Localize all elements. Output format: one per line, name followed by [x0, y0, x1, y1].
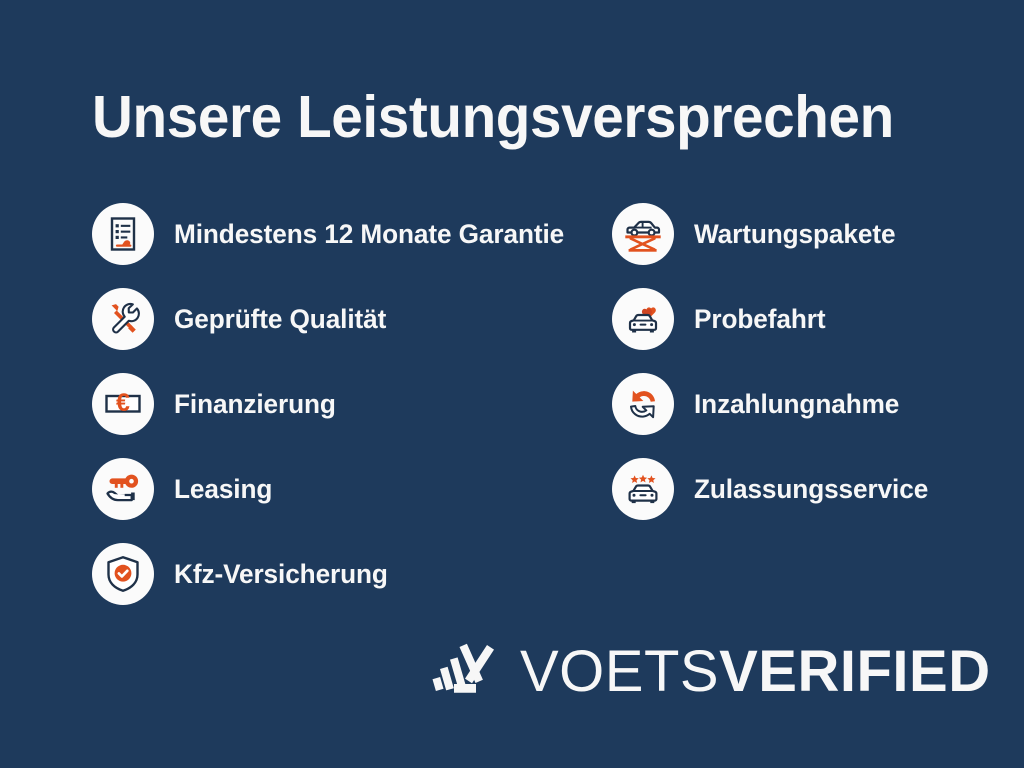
promo-banner: Unsere Leistungsversprechen Mindestens 1…: [0, 0, 1024, 768]
wrench-screwdriver-icon: [92, 288, 154, 350]
feature-label: Leasing: [174, 476, 272, 503]
voets-verified-logo: VOETSVERIFIED: [432, 636, 991, 708]
feature-column-right: Wartungspakete Probefahrt: [612, 203, 1012, 543]
feature-item-probefahrt: Probefahrt: [612, 288, 1012, 350]
feature-item-qualitaet: Geprüfte Qualität: [92, 288, 592, 350]
exchange-arrows-icon: [612, 373, 674, 435]
feature-item-finanzierung: € Finanzierung: [92, 373, 592, 435]
document-signature-icon: [92, 203, 154, 265]
feature-item-versicherung: Kfz-Versicherung: [92, 543, 592, 605]
svg-text:€: €: [116, 389, 130, 417]
logo-name-verified: VERIFIED: [719, 643, 991, 701]
feature-item-inzahlungnahme: Inzahlungnahme: [612, 373, 1012, 435]
car-lift-icon: [612, 203, 674, 265]
feature-item-wartungspakete: Wartungspakete: [612, 203, 1012, 265]
feature-label: Finanzierung: [174, 391, 336, 418]
feature-item-zulassungsservice: Zulassungsservice: [612, 458, 1012, 520]
hand-key-icon: [92, 458, 154, 520]
feature-item-garantie: Mindestens 12 Monate Garantie: [92, 203, 592, 265]
page-title: Unsere Leistungsversprechen: [92, 82, 918, 152]
feature-label: Inzahlungnahme: [694, 391, 899, 418]
feature-label: Wartungspakete: [694, 221, 895, 248]
feature-label: Zulassungsservice: [694, 476, 928, 503]
logo-name-voets: VOETS: [520, 643, 719, 701]
banknote-euro-icon: €: [92, 373, 154, 435]
feature-item-leasing: Leasing: [92, 458, 592, 520]
feature-label: Kfz-Versicherung: [174, 561, 388, 588]
car-hearts-icon: [612, 288, 674, 350]
feature-label: Geprüfte Qualität: [174, 306, 386, 333]
feature-label: Mindestens 12 Monate Garantie: [174, 221, 564, 248]
logo-wordmark: VOETSVERIFIED: [520, 643, 991, 701]
feature-column-left: Mindestens 12 Monate Garantie Geprüfte Q…: [92, 203, 592, 628]
voets-check-mark-icon: [432, 639, 498, 705]
feature-label: Probefahrt: [694, 306, 825, 333]
shield-check-icon: [92, 543, 154, 605]
car-stars-icon: [612, 458, 674, 520]
